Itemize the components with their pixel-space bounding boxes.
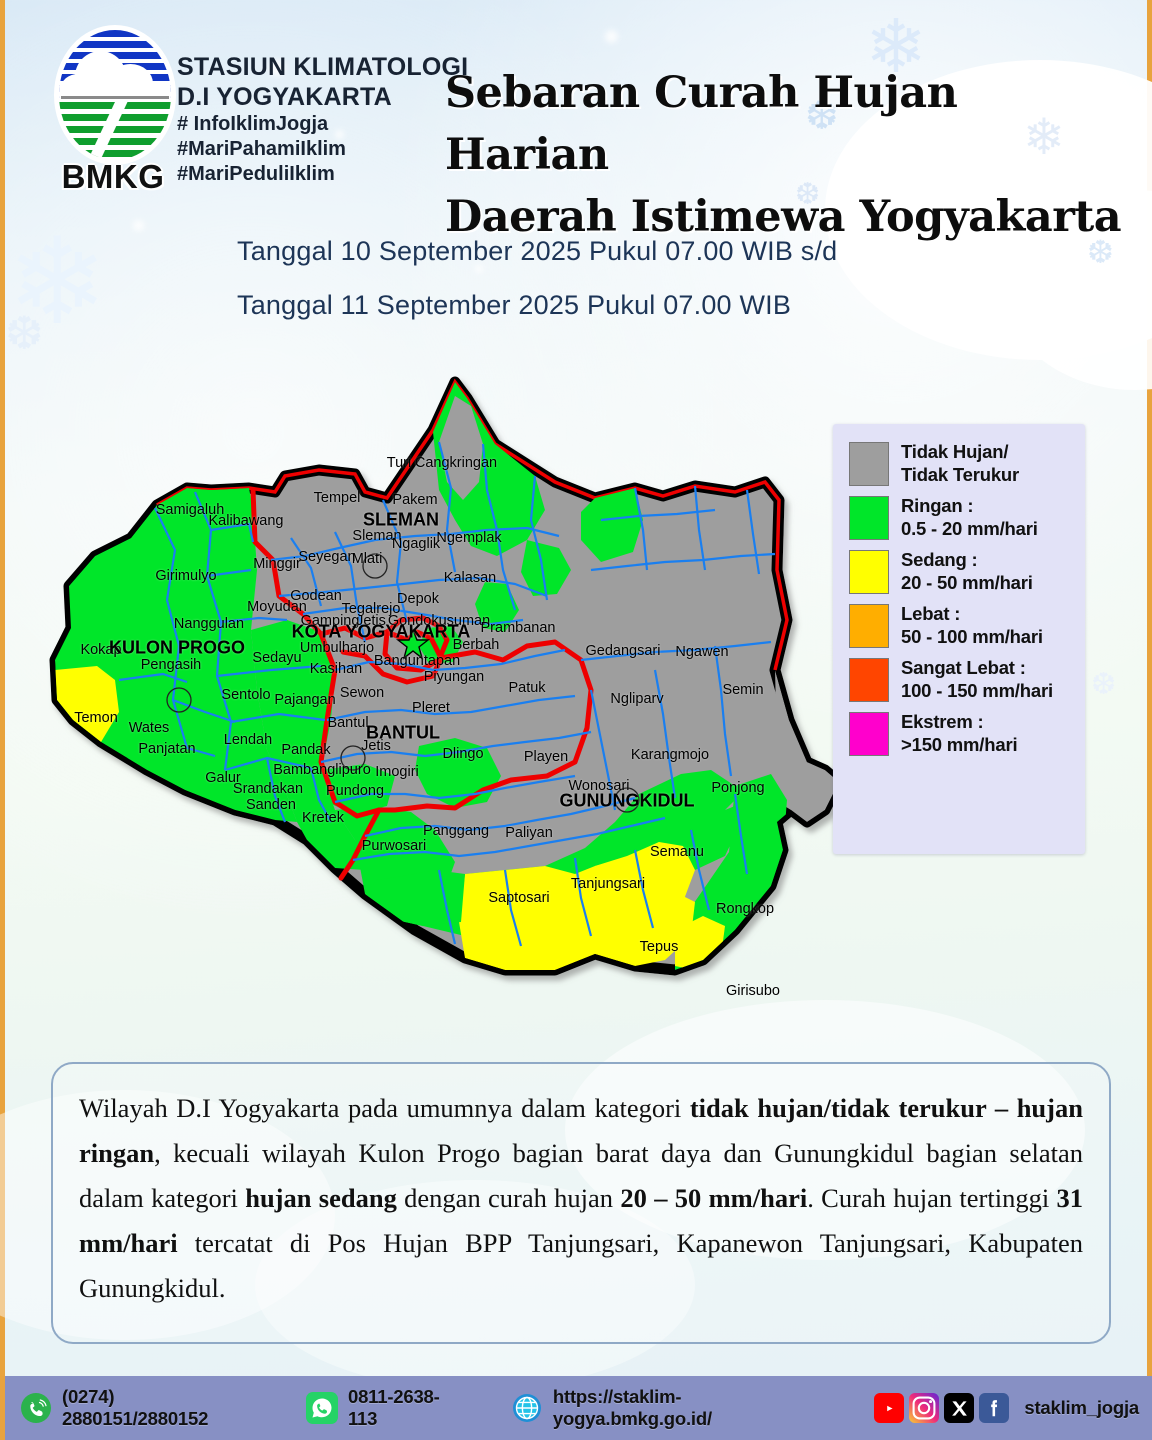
map-district-label: Ngliparv — [610, 691, 663, 707]
map-district-label: Pengasih — [141, 657, 201, 673]
map-district-label: Cangkringan — [415, 455, 497, 471]
footer-website[interactable]: https://staklim-yogya.bmkg.go.id/ — [510, 1386, 834, 1430]
legend-label-line1: Ringan : — [901, 494, 1038, 517]
map-district-label: Kokap — [80, 642, 121, 658]
globe-icon — [510, 1391, 544, 1425]
map-regency-label: KULON PROGO — [109, 638, 245, 659]
header: BMKG STASIUN KLIMATOLOGI D.I YOGYAKARTA … — [5, 0, 1152, 210]
map-district-label: Pleret — [412, 700, 450, 716]
map-district-label: Semin — [722, 682, 763, 698]
summary-run: tercatat di Pos Hujan BPP Tanjungsari, K… — [79, 1228, 1083, 1303]
legend-label: Lebat :50 - 100 mm/hari — [901, 602, 1043, 648]
legend-label-line1: Ekstrem : — [901, 710, 1017, 733]
summary-run: . Curah hujan tertinggi — [807, 1183, 1056, 1213]
legend-label: Ringan :0.5 - 20 mm/hari — [901, 494, 1038, 540]
map-district-label: Sedayu — [252, 650, 301, 666]
map-district-label: Pandak — [281, 742, 330, 758]
instagram-icon[interactable] — [909, 1393, 939, 1423]
map-district-label: Dlingo — [442, 746, 483, 762]
map-district-label: Karangmojo — [631, 747, 709, 763]
map-district-label: Kalibawang — [209, 513, 284, 529]
map-district-label: Sleman — [352, 528, 401, 544]
map-district-label: Kalasan — [444, 570, 496, 586]
legend-label-line2: 20 - 50 mm/hari — [901, 571, 1033, 594]
map-district-label: Girimulyo — [155, 568, 216, 584]
date-line-1: Tanggal 10 September 2025 Pukul 07.00 WI… — [237, 224, 837, 278]
legend-label: Tidak Hujan/Tidak Terukur — [901, 440, 1019, 486]
map-district-label: Minggir — [253, 556, 301, 572]
legend-label-line2: >150 mm/hari — [901, 733, 1017, 756]
legend-item: Ringan :0.5 - 20 mm/hari — [849, 494, 1075, 540]
phone-number: (0274) 2880151/2880152 — [62, 1386, 261, 1430]
map-district-label: Pundong — [326, 783, 384, 799]
map-district-label: Kretek — [302, 810, 344, 826]
snowflake-7: ❆ — [5, 310, 44, 356]
legend-label-line2: 0.5 - 20 mm/hari — [901, 517, 1038, 540]
map-district-label: Kasihan — [310, 661, 362, 677]
legend-swatch — [849, 658, 889, 702]
map-district-label: Rongkop — [716, 901, 774, 917]
map-district-label: Bambanglipuro — [273, 762, 371, 778]
legend-label-line2: 50 - 100 mm/hari — [901, 625, 1043, 648]
whatsapp-icon — [305, 1391, 339, 1425]
map-district-label: Tegalrejo — [342, 601, 401, 617]
date-range: Tanggal 10 September 2025 Pukul 07.00 WI… — [237, 224, 837, 332]
hashtag-3: #MariPeduliIklim — [177, 162, 468, 187]
map-district-label: Banguntapan — [374, 653, 460, 669]
map-district-label: Sanden — [246, 797, 296, 813]
summary-emphasis: hujan sedang — [245, 1183, 397, 1213]
map-district-label: Jetis — [361, 738, 391, 754]
sparkle-3 — [133, 220, 144, 231]
map-district-label: Bantul — [327, 715, 368, 731]
date-line-2: Tanggal 11 September 2025 Pukul 07.00 WI… — [237, 278, 837, 332]
legend-panel: Tidak Hujan/Tidak TerukurRingan :0.5 - 2… — [833, 424, 1085, 854]
legend-swatch — [849, 604, 889, 648]
map-district-label: Jetis — [356, 613, 386, 629]
logo-field-stripes — [59, 102, 171, 161]
legend-rows: Tidak Hujan/Tidak TerukurRingan :0.5 - 2… — [849, 440, 1075, 756]
map-regency-label: BANTUL — [366, 723, 440, 744]
hashtag-2: #MariPahamiIklim — [177, 137, 468, 162]
org-line-2: D.I YOGYAKARTA — [177, 82, 468, 112]
map-district-label: Patuk — [508, 680, 545, 696]
snowflake-1: ❄ — [7, 222, 108, 342]
whatsapp-number: 0811-2638-113 — [348, 1386, 466, 1430]
org-line-1: STASIUN KLIMATOLOGI — [177, 52, 468, 82]
map-district-label: Srandakan — [233, 781, 303, 797]
summary-run: Wilayah D.I Yogyakarta pada umumnya dala… — [79, 1093, 690, 1123]
map-district-label: Ngawen — [675, 644, 728, 660]
map-district-label: Saptosari — [488, 890, 549, 906]
summary-run: dengan curah hujan — [397, 1183, 621, 1213]
bmkg-logo: BMKG — [43, 26, 183, 198]
map-regency-label: KOTA YOGYAKARTA — [292, 622, 471, 643]
map-district-label: Tempel — [314, 490, 361, 506]
legend-label-line1: Lebat : — [901, 602, 1043, 625]
map-district-label: Gedangsari — [586, 643, 661, 659]
map-district-label: Panggang — [423, 823, 489, 839]
map-district-label: Ngaglik — [392, 536, 440, 552]
legend-swatch — [849, 442, 889, 486]
map-district-label: Tanjungsari — [571, 876, 645, 892]
map-district-label: Ponjong — [711, 780, 764, 796]
legend-label: Sangat Lebat :100 - 150 mm/hari — [901, 656, 1053, 702]
legend-label: Ekstrem :>150 mm/hari — [901, 710, 1017, 756]
page-title: Sebaran Curah Hujan Harian Daerah Istime… — [445, 62, 1135, 248]
map-district-label: Purwosari — [362, 838, 426, 854]
map-district-label: Temon — [74, 710, 118, 726]
x-twitter-icon[interactable] — [944, 1393, 974, 1423]
map-district-label: Godean — [290, 588, 342, 604]
rainfall-map[interactable]: SamigaluhKalibawangGirimulyoNanggulanKok… — [35, 370, 845, 1020]
map-district-label: Depok — [397, 591, 439, 607]
map-district-label: Tepus — [640, 939, 679, 955]
footer-social[interactable]: staklim_jogja — [874, 1393, 1139, 1423]
map-regency-label: GUNUNGKIDUL — [560, 791, 695, 812]
legend-swatch — [849, 712, 889, 756]
legend-label-line2: 100 - 150 mm/hari — [901, 679, 1053, 702]
map-district-label: Seyegan — [298, 549, 355, 565]
map-district-label: Imogiri — [375, 764, 419, 780]
map-district-label: Semanu — [650, 844, 704, 860]
youtube-icon[interactable] — [874, 1393, 904, 1423]
map-district-label: Sewon — [340, 685, 384, 701]
footer-bar: (0274) 2880151/2880152 0811-2638-113 — [5, 1376, 1152, 1440]
map-district-label: Sentolo — [221, 687, 270, 703]
footer-whatsapp[interactable]: 0811-2638-113 — [305, 1386, 466, 1430]
summary-text: Wilayah D.I Yogyakarta pada umumnya dala… — [79, 1086, 1083, 1311]
legend-item: Sangat Lebat :100 - 150 mm/hari — [849, 656, 1075, 702]
map-regency-label: SLEMAN — [363, 510, 439, 531]
footer-phone[interactable]: (0274) 2880151/2880152 — [19, 1386, 261, 1430]
bmkg-logo-text: BMKG — [53, 158, 173, 196]
map-district-label: Moyudan — [247, 599, 307, 615]
snowflake-8: ❆ — [1091, 670, 1116, 700]
facebook-icon[interactable] — [979, 1393, 1009, 1423]
legend-swatch — [849, 496, 889, 540]
map-district-label: Umbulharjo — [300, 640, 374, 656]
hashtag-1: # InfoIklimJogja — [177, 112, 468, 137]
map-district-label: Pakem — [392, 492, 437, 508]
legend-item: Sedang :20 - 50 mm/hari — [849, 548, 1075, 594]
map-district-label: Wonosari — [569, 778, 630, 794]
legend-label-line1: Tidak Hujan/ — [901, 440, 1019, 463]
organization-block: STASIUN KLIMATOLOGI D.I YOGYAKARTA # Inf… — [177, 52, 468, 187]
map-district-label: Samigaluh — [156, 502, 225, 518]
map-district-label: Panjatan — [138, 741, 195, 757]
social-handle: staklim_jogja — [1024, 1397, 1139, 1419]
legend-swatch — [849, 550, 889, 594]
map-district-label: Berbah — [453, 637, 500, 653]
map-district-label: Wates — [129, 720, 170, 736]
map-district-label: Pajangan — [274, 692, 335, 708]
bmkg-logo-emblem — [59, 30, 171, 160]
map-district-label: Playen — [524, 749, 568, 765]
map-district-label: Prambanan — [481, 620, 556, 636]
legend-item: Ekstrem :>150 mm/hari — [849, 710, 1075, 756]
summary-box: Wilayah D.I Yogyakarta pada umumnya dala… — [51, 1062, 1111, 1344]
legend-item: Tidak Hujan/Tidak Terukur — [849, 440, 1075, 486]
map-district-label: Turi — [387, 455, 411, 471]
legend-label: Sedang :20 - 50 mm/hari — [901, 548, 1033, 594]
legend-label-line1: Sedang : — [901, 548, 1033, 571]
map-district-label: Ngemplak — [436, 530, 501, 546]
legend-label-line2: Tidak Terukur — [901, 463, 1019, 486]
legend-label-line1: Sangat Lebat : — [901, 656, 1053, 679]
legend-item: Lebat :50 - 100 mm/hari — [849, 602, 1075, 648]
map-district-label: Paliyan — [505, 825, 553, 841]
logo-horizon-line — [61, 96, 169, 99]
map-district-label: Lendah — [224, 732, 272, 748]
logo-cloud-base — [59, 82, 171, 103]
website-url: https://staklim-yogya.bmkg.go.id/ — [553, 1386, 834, 1430]
phone-icon — [19, 1391, 53, 1425]
map-district-label: Girisubo — [726, 983, 780, 999]
map-district-label: Gamping — [301, 613, 360, 629]
map-district-label: Piyungan — [424, 669, 484, 685]
map-labels: SamigaluhKalibawangGirimulyoNanggulanKok… — [35, 370, 845, 1020]
map-district-label: Mlati — [352, 551, 383, 567]
title-line-1: Sebaran Curah Hujan Harian — [445, 62, 1135, 186]
summary-emphasis: 20 – 50 mm/hari — [620, 1183, 807, 1213]
map-district-label: Gondokusuman — [388, 613, 490, 629]
map-district-label: Galur — [205, 770, 240, 786]
map-district-label: Nanggulan — [174, 616, 244, 632]
